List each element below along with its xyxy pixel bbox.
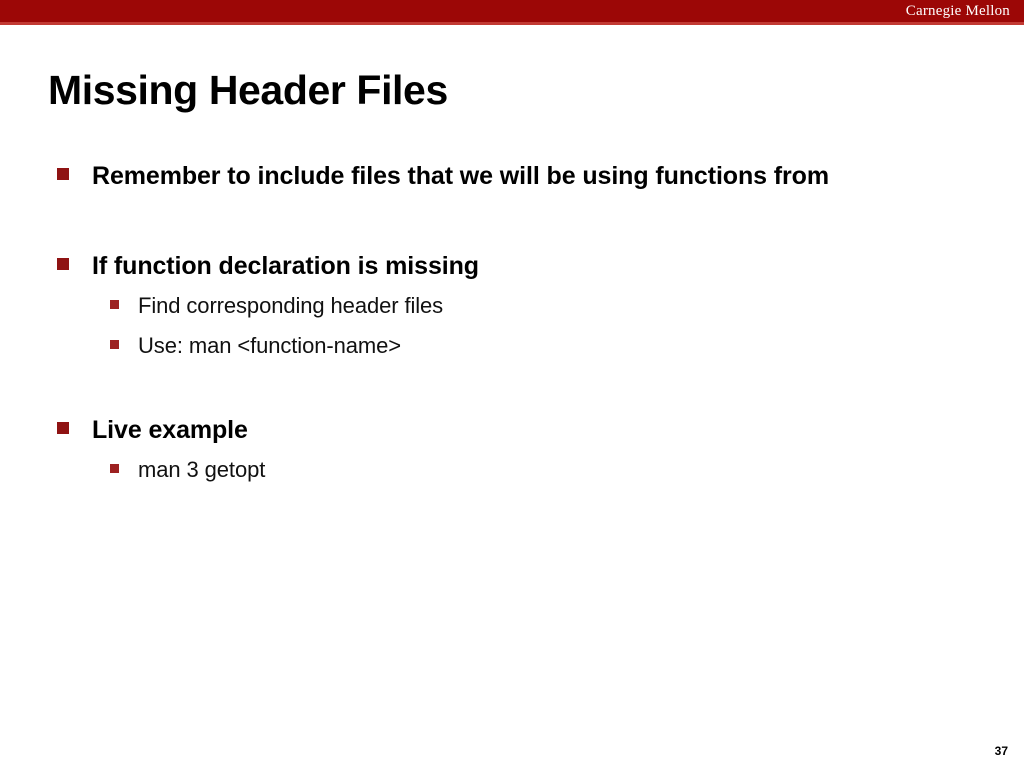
small-square-bullet-icon: [110, 464, 119, 473]
small-square-bullet-icon: [110, 300, 119, 309]
slide-body: Remember to include files that we will b…: [0, 156, 1024, 490]
spacer: [0, 366, 1024, 410]
square-bullet-icon: [57, 422, 69, 434]
bullet-group-3: Live example man 3 getopt: [0, 410, 1024, 490]
bullet-group-1: Remember to include files that we will b…: [0, 156, 1024, 196]
brand-label: Carnegie Mellon: [906, 2, 1010, 20]
square-bullet-icon: [57, 168, 69, 180]
bullet-level1: If function declaration is missing: [0, 246, 1024, 286]
page-title: Missing Header Files: [48, 66, 948, 114]
bullet-level2-label: man 3 getopt: [138, 457, 265, 482]
bullet-level1-label: Live example: [92, 416, 248, 444]
bullet-level2: Find corresponding header files: [0, 286, 1024, 326]
square-bullet-icon: [57, 258, 69, 270]
spacer: [0, 196, 1024, 246]
bullet-level2: Use: man <function-name>: [0, 326, 1024, 366]
bullet-group-2: If function declaration is missing Find …: [0, 246, 1024, 366]
bullet-level1-label: If function declaration is missing: [92, 252, 479, 280]
bullet-level1: Live example: [0, 410, 1024, 450]
bullet-level1-label: Remember to include files that we will b…: [92, 162, 829, 190]
bullet-level1: Remember to include files that we will b…: [0, 156, 1024, 196]
bullet-level2: man 3 getopt: [0, 450, 1024, 490]
bullet-level2-label: Use: man <function-name>: [138, 333, 401, 358]
top-banner: [0, 0, 1024, 22]
page-number: 37: [995, 744, 1008, 758]
small-square-bullet-icon: [110, 340, 119, 349]
banner-underline: [0, 22, 1024, 25]
bullet-level2-label: Find corresponding header files: [138, 293, 443, 318]
